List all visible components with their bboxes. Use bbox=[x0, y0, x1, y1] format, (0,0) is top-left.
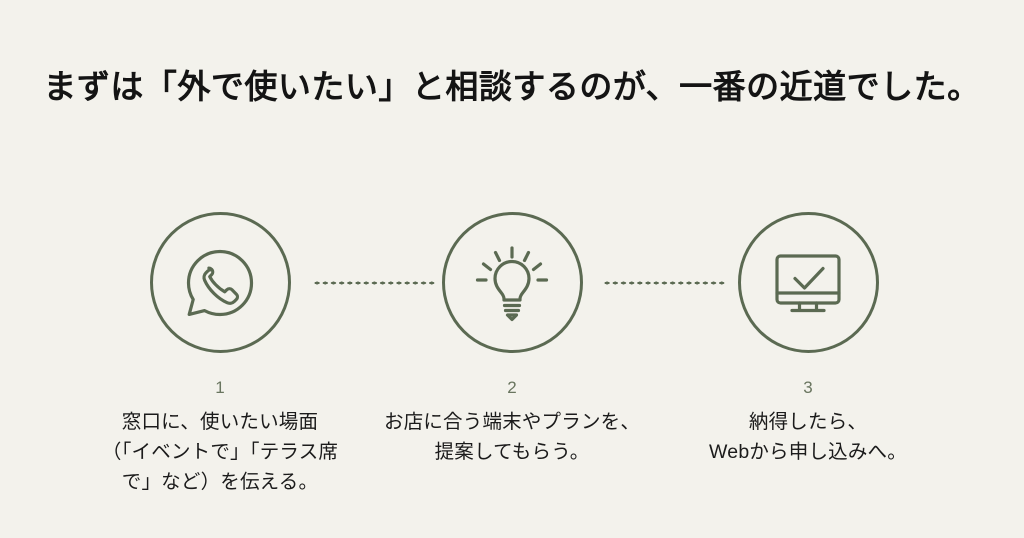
dotted-connector-2-3 bbox=[603, 281, 725, 285]
dotted-connector-1-2 bbox=[313, 281, 437, 285]
step-caption-line: で」など）を伝える。 bbox=[90, 467, 350, 497]
slide-canvas: まずは「外で使いたい」と相談するのが、一番の近道でした。 1 窓口に、使いたい場… bbox=[0, 0, 1024, 538]
page-title-container: まずは「外で使いたい」と相談するのが、一番の近道でした。 bbox=[0, 44, 1024, 129]
step-item-1: 1 窓口に、使いたい場面 （「イベントで」「テラス席 で」など）を伝える。 bbox=[90, 212, 350, 498]
lightbulb-idea-icon bbox=[472, 243, 552, 323]
step-caption-2: お店に合う端末やプランを、 提案してもらう。 bbox=[382, 407, 642, 467]
step-icon-circle-3 bbox=[738, 212, 879, 353]
step-icon-circle-1 bbox=[150, 212, 291, 353]
step-caption-1: 窓口に、使いたい場面 （「イベントで」「テラス席 で」など）を伝える。 bbox=[90, 407, 350, 498]
step-item-3: 3 納得したら、 Webから申し込みへ。 bbox=[678, 212, 938, 467]
step-number-1: 1 bbox=[90, 379, 350, 396]
step-caption-line: 納得したら、 bbox=[678, 407, 938, 437]
step-caption-line: Webから申し込みへ。 bbox=[678, 437, 938, 467]
step-caption-3: 納得したら、 Webから申し込みへ。 bbox=[678, 407, 938, 467]
page-title: まずは「外で使いたい」と相談するのが、一番の近道でした。 bbox=[43, 66, 980, 107]
step-item-2: 2 お店に合う端末やプランを、 提案してもらう。 bbox=[382, 212, 642, 467]
dotted-line bbox=[313, 281, 437, 285]
step-number-2: 2 bbox=[382, 379, 642, 396]
chat-bubble-phone-icon bbox=[181, 244, 259, 322]
step-number-3: 3 bbox=[678, 379, 938, 396]
step-caption-line: 提案してもらう。 bbox=[382, 437, 642, 467]
step-icon-circle-2 bbox=[442, 212, 583, 353]
step-caption-line: 窓口に、使いたい場面 bbox=[90, 407, 350, 437]
step-caption-line: お店に合う端末やプランを、 bbox=[382, 407, 642, 437]
steps-row: 1 窓口に、使いたい場面 （「イベントで」「テラス席 で」など）を伝える。 bbox=[0, 212, 1024, 512]
dotted-line bbox=[603, 281, 725, 285]
step-caption-line: （「イベントで」「テラス席 bbox=[90, 437, 350, 467]
monitor-checkmark-icon bbox=[768, 243, 848, 323]
